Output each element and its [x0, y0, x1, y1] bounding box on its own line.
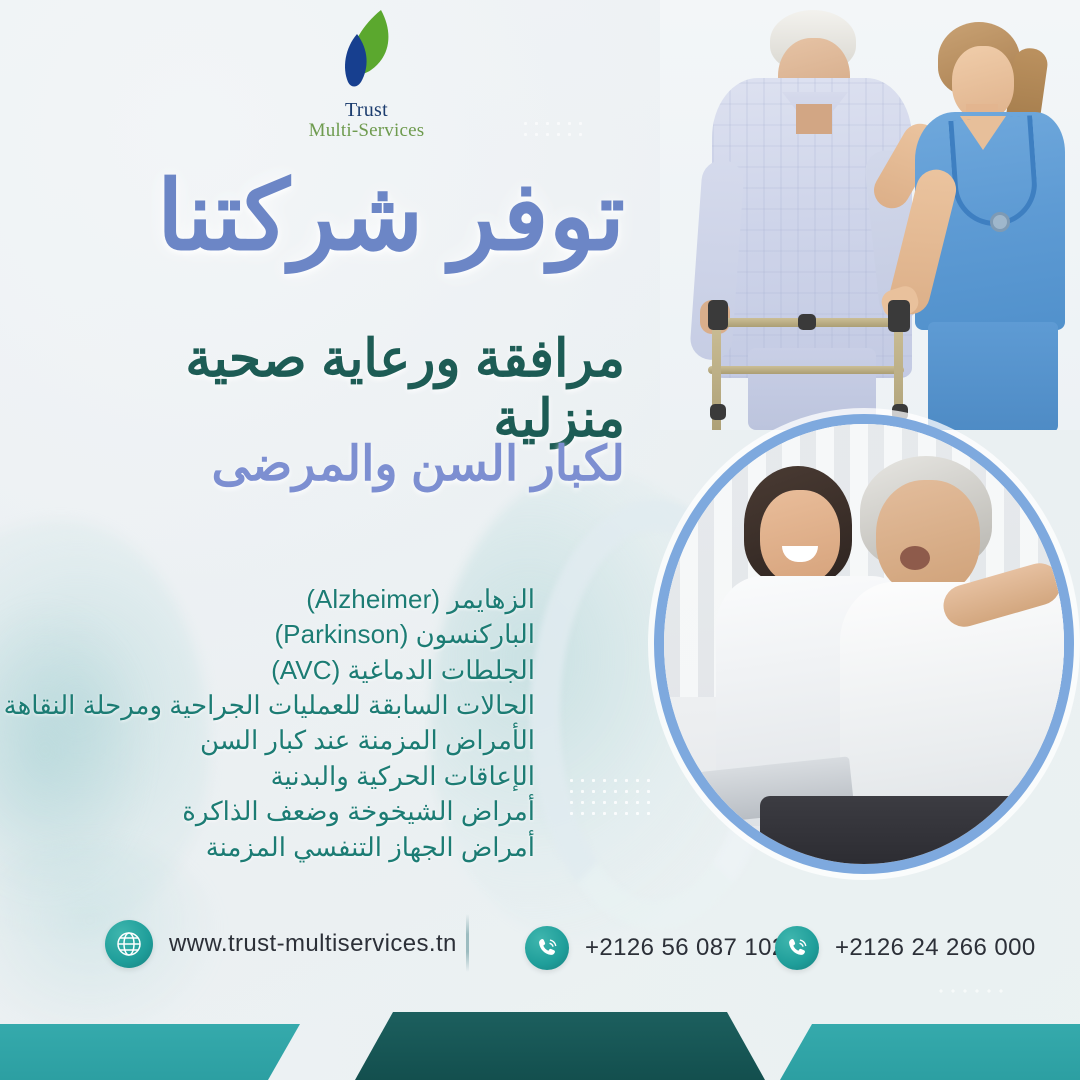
bottom-decorative-band: [0, 1012, 1080, 1080]
headline-block: توفر شركتنا: [65, 165, 625, 269]
website-text: www.trust-multiservices.tn: [169, 930, 457, 958]
service-item: الباركنسون (Parkinson): [0, 617, 535, 652]
phone-1-text: +2126 56 087 102: [585, 934, 786, 962]
footer-phone-2[interactable]: +2126 24 266 000: [775, 926, 1036, 970]
phone-2-text: +2126 24 266 000: [835, 934, 1036, 962]
service-item: الحالات السابقة للعمليات الجراحية ومرحلة…: [0, 688, 535, 723]
footer-phone-1[interactable]: +2126 56 087 102: [525, 926, 786, 970]
service-item: الأمراض المزمنة عند كبار السن: [0, 723, 535, 758]
footer-divider: [466, 914, 469, 972]
poster-canvas: Trust Multi-Services توفر شركتنا مرافقة …: [0, 0, 1080, 1080]
phone-call-icon: [775, 926, 819, 970]
service-item: الزهايمر (Alzheimer): [0, 582, 535, 617]
photo-caregiver-and-elderly-woman: [654, 414, 1074, 874]
photo-nurse-and-elderly-man: [660, 0, 1080, 430]
globe-icon: [105, 920, 153, 968]
headline-line-2: مرافقة ورعاية صحية منزلية: [65, 330, 625, 450]
service-item: أمراض الجهاز التنفسي المزمنة: [0, 830, 535, 865]
headline-line-3: لكبار السن والمرضى: [65, 437, 625, 492]
logo-name: Trust: [274, 100, 459, 121]
decor-dot-grid-top: [520, 118, 590, 142]
footer-website[interactable]: www.trust-multiservices.tn: [105, 920, 457, 968]
headline-line-1: توفر شركتنا: [65, 165, 625, 269]
logo-tagline: Multi-Services: [274, 121, 459, 141]
phone-call-icon: [525, 926, 569, 970]
decor-dot-grid-center: [566, 775, 656, 815]
service-item: الإعاقات الحركية والبدنية: [0, 759, 535, 794]
service-item: الجلطات الدماغية (AVC): [0, 653, 535, 688]
service-item: أمراض الشيخوخة وضعف الذاكرة: [0, 794, 535, 829]
walker-frame: [708, 300, 938, 430]
services-list: الزهايمر (Alzheimer)الباركنسون (Parkinso…: [0, 582, 535, 865]
brand-logo[interactable]: Trust Multi-Services: [274, 6, 459, 146]
footer-contact-bar: www.trust-multiservices.tn +2126 56 087 …: [0, 908, 1080, 996]
band-trapezoid-center: [355, 1012, 765, 1080]
leaf-flame-logo-icon: [321, 6, 413, 98]
band-trapezoid-left: [0, 1024, 300, 1080]
band-trapezoid-right: [780, 1024, 1080, 1080]
